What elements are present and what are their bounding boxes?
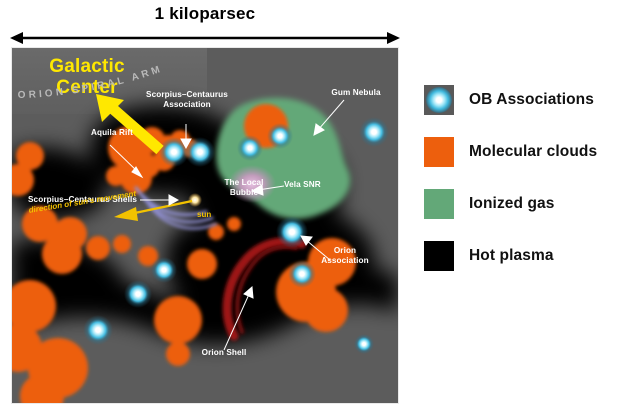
legend-item-ob-associations: OB Associations — [424, 74, 619, 126]
sco-cen-assoc-line1: Scorpius–Centaurus — [146, 90, 228, 99]
legend-item-hot-plasma: Hot plasma — [424, 230, 619, 282]
scale-bar-double-arrow-icon — [10, 29, 400, 47]
black-square-swatch-icon — [424, 241, 454, 271]
legend-label-molecular-clouds: Molecular clouds — [469, 143, 597, 161]
orion-shell-label: Orion Shell — [180, 348, 268, 358]
scale-bar-title: 1 kiloparsec — [12, 4, 398, 24]
legend-label-ionized-gas: Ionized gas — [469, 195, 555, 213]
legend: OB Associations Molecular clouds Ionized… — [424, 74, 619, 282]
sun-marker — [188, 193, 202, 207]
galactic-center-label: Galactic Center — [32, 56, 142, 98]
sco-cen-assoc-line2: Association — [163, 100, 211, 109]
orion-assoc-line1: Orion — [334, 246, 356, 255]
sun-label: sun — [197, 210, 211, 219]
aquila-rift-label: Aquila Rift — [72, 128, 152, 138]
vela-snr-label: Vela SNR — [284, 180, 332, 190]
legend-label-hot-plasma: Hot plasma — [469, 247, 554, 265]
orion-association-label: Orion Association — [316, 246, 374, 265]
galactic-center-label-line2: Center — [56, 77, 117, 98]
galactic-center-label-line1: Galactic — [49, 56, 125, 77]
legend-label-ob-associations: OB Associations — [469, 91, 594, 109]
gum-nebula-label: Gum Nebula — [326, 88, 386, 98]
scorpius-centaurus-association-label: Scorpius–Centaurus Association — [146, 90, 228, 109]
orange-square-swatch-icon — [424, 137, 454, 167]
local-bubble-label: The Local Bubble — [216, 178, 272, 197]
orion-assoc-line2: Association — [321, 256, 369, 265]
legend-item-ionized-gas: Ionized gas — [424, 178, 619, 230]
ob-star-glyph — [426, 87, 452, 113]
legend-item-molecular-clouds: Molecular clouds — [424, 126, 619, 178]
green-square-swatch-icon — [424, 189, 454, 219]
local-bubble-line1: The Local — [224, 178, 263, 187]
local-bubble-line2: Bubble — [230, 188, 258, 197]
ob-association-star-swatch-icon — [424, 85, 454, 115]
galaxy-map: Galactic Center Aquila Rift Scorpius–Cen… — [12, 48, 398, 403]
